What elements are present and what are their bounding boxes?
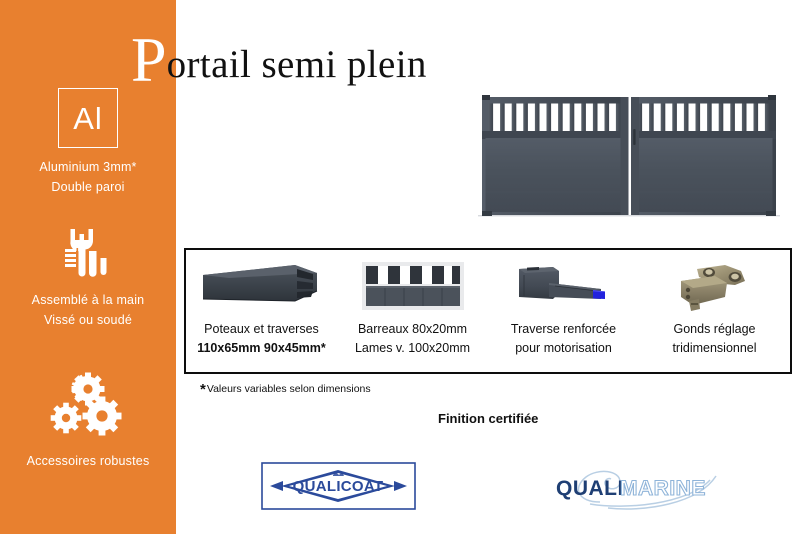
page-title-capital: P <box>131 28 167 92</box>
spec-cell-poteaux: Poteaux et traverses 110x65mm 90x45mm* <box>186 250 337 372</box>
bars-slats-sample-icon <box>360 258 466 314</box>
spec-line-1: Gonds réglage <box>672 320 756 339</box>
footnote-star: * <box>200 381 206 398</box>
sidebar-feature-assembly: Assemblé à la main Vissé ou soudé <box>0 227 176 330</box>
spec-cell-barreaux: Barreaux 80x20mm Lames v. 100x20mm <box>337 250 488 372</box>
qualimarine-logo: QUALI MARINE <box>548 464 723 512</box>
gears-icon <box>44 372 132 442</box>
spec-line-2: 110x65mm 90x45mm* <box>197 339 326 358</box>
spec-cell-traverse: Traverse renforcée pour motorisation <box>488 250 639 372</box>
spec-line-2: pour motorisation <box>511 339 616 358</box>
footnote-text: Valeurs variables selon dimensions <box>207 383 371 395</box>
wrench-screws-icon <box>57 227 119 281</box>
qualimarine-wordmark-dark: QUALI <box>556 477 624 500</box>
spec-line-1: Barreaux 80x20mm <box>355 320 470 339</box>
feature-line: Assemblé à la main <box>32 290 145 310</box>
spec-cell-gonds-text: Gonds réglage tridimensionnel <box>672 320 756 358</box>
finition-label: Finition certifiée <box>438 411 538 426</box>
aluminium-square-icon: Al <box>58 88 118 148</box>
feature-line: Accessoires robustes <box>27 451 150 471</box>
sidebar-feature-assembly-text: Assemblé à la main Vissé ou soudé <box>32 290 145 330</box>
spec-line-2: Lames v. 100x20mm <box>355 339 470 358</box>
feature-line: Double paroi <box>39 177 136 197</box>
spec-cell-poteaux-text: Poteaux et traverses 110x65mm 90x45mm* <box>197 320 326 358</box>
qualicoat-logo: QUALICOAT <box>261 462 416 510</box>
spec-line-1: Traverse renforcée <box>511 320 616 339</box>
sidebar-feature-accessories: Accessoires robustes <box>0 372 176 471</box>
sidebar-feature-aluminium-text: Aluminium 3mm* Double paroi <box>39 157 136 197</box>
footnote: *Valeurs variables selon dimensions <box>200 379 371 396</box>
spec-line-1: Poteaux et traverses <box>197 320 326 339</box>
spec-box: Poteaux et traverses 110x65mm 90x45mm* <box>184 248 792 374</box>
feature-line: Vissé ou soudé <box>32 310 145 330</box>
page-title: P ortail semi plein <box>131 24 427 86</box>
spec-cell-traverse-text: Traverse renforcée pour motorisation <box>511 320 616 358</box>
aluminium-icon-label: Al <box>73 103 103 134</box>
sidebar-feature-aluminium: Al Aluminium 3mm* Double paroi <box>0 88 176 197</box>
qualimarine-wordmark-light: MARINE <box>620 477 706 500</box>
post-profile-icon <box>199 258 325 314</box>
qualicoat-wordmark: QUALICOAT <box>293 478 384 495</box>
feature-line: Aluminium 3mm* <box>39 157 136 177</box>
sidebar-feature-accessories-text: Accessoires robustes <box>27 451 150 471</box>
hinge-icon <box>669 258 761 314</box>
page-title-rest: ortail semi plein <box>167 45 427 84</box>
reinforced-crossbar-icon <box>505 258 623 314</box>
spec-line-2: tridimensionnel <box>672 339 756 358</box>
product-spec-sheet: Al Aluminium 3mm* Double paroi <box>0 0 800 534</box>
spec-cell-barreaux-text: Barreaux 80x20mm Lames v. 100x20mm <box>355 320 470 358</box>
spec-cell-gonds: Gonds réglage tridimensionnel <box>639 250 790 372</box>
gate-illustration <box>468 83 790 231</box>
